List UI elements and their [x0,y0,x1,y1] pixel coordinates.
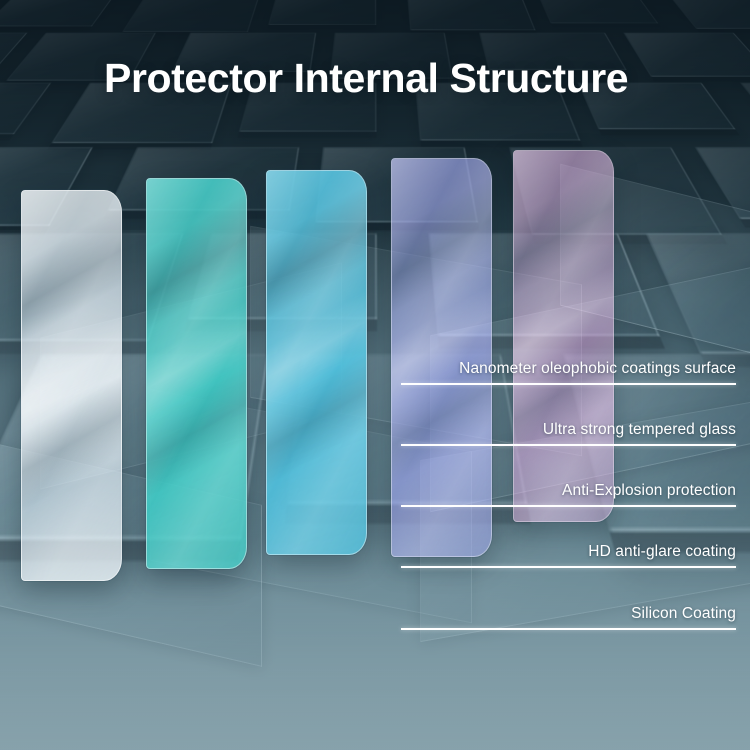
callout-item: Silicon Coating [401,588,736,630]
callout-label: Silicon Coating [631,605,736,623]
callout-item: Nanometer oleophobic coatings surface [401,343,736,385]
callout-leader-line [401,566,736,568]
callout-leader-line [401,628,736,630]
callout-label: HD anti-glare coating [588,543,736,561]
product-infographic: Nanometer oleophobic coatings surfaceUlt… [0,0,750,750]
callout-item: Anti-Explosion protection [401,465,736,507]
callout-leader-line [401,383,736,385]
callout-label: Anti-Explosion protection [562,482,736,500]
callout-label: Nanometer oleophobic coatings surface [459,360,736,378]
callout-item: Ultra strong tempered glass [401,404,736,446]
callout-leader-line [401,444,736,446]
callout-label: Ultra strong tempered glass [543,421,736,439]
callout-item: HD anti-glare coating [401,526,736,568]
callout-leader-line [401,505,736,507]
callout-list: Nanometer oleophobic coatings surfaceUlt… [0,0,750,750]
